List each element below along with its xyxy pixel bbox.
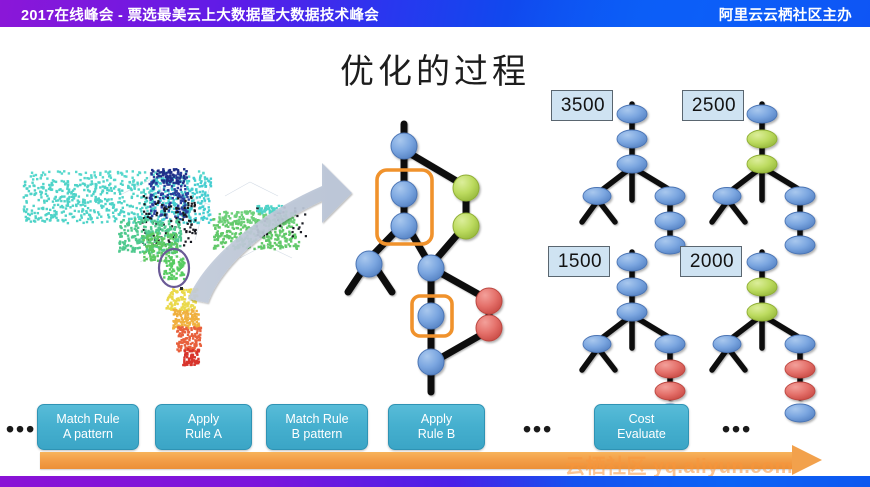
plan-cost-badge-3: 1500 <box>548 246 610 277</box>
pipeline-step-apply-rule-a[interactable]: Apply Rule A <box>155 404 252 450</box>
site-watermark: 云栖社区 yq.aliyun.com <box>565 450 870 474</box>
pipeline-step-cost-evaluate[interactable]: Cost Evaluate <box>594 404 689 450</box>
tree-node-red <box>476 288 502 314</box>
candidate-plan-4 <box>712 252 815 422</box>
transition-arrow <box>188 163 352 303</box>
page-title: 优化的过程 <box>0 44 870 93</box>
plan-cost-badge-1: 3500 <box>551 90 613 121</box>
tree-node-blue <box>391 213 417 239</box>
summit-title: 2017在线峰会 - 票选最美云上大数据暨大数据技术峰会 <box>21 4 379 25</box>
tree-node-blue <box>418 255 444 281</box>
tree-node-blue <box>391 181 417 207</box>
pipeline-step-apply-rule-b[interactable]: Apply Rule B <box>388 404 485 450</box>
tree-node-blue <box>356 251 382 277</box>
tree-node-blue <box>391 133 417 159</box>
plan-cost-badge-2: 2500 <box>682 90 744 121</box>
pipeline-trailing-ellipsis: ••• <box>722 424 752 434</box>
top-header-bar: 2017在线峰会 - 票选最美云上大数据暨大数据技术峰会 阿里云云栖社区主办 <box>0 0 870 27</box>
pipeline-leading-ellipsis: ••• <box>6 424 36 434</box>
slide-canvas: 2017在线峰会 - 票选最美云上大数据暨大数据技术峰会 阿里云云栖社区主办 优… <box>0 0 870 487</box>
candidate-plan-2 <box>712 104 815 254</box>
pipeline-step-match-rule-b[interactable]: Match Rule B pattern <box>266 404 368 450</box>
rule-match-highlight-b <box>412 296 452 336</box>
rule-match-highlight-a <box>377 170 432 244</box>
bottom-accent-bar <box>0 476 870 487</box>
highlight-ellipse <box>159 249 189 287</box>
candidate-plan-3 <box>582 252 685 422</box>
tree-node-red <box>476 315 502 341</box>
candidate-plan-1 <box>582 104 685 254</box>
tree-node-blue <box>418 349 444 375</box>
tree-node-green <box>453 175 479 201</box>
summit-organizer: 阿里云云栖社区主办 <box>719 4 852 25</box>
pipeline-middle-ellipsis: ••• <box>523 424 553 434</box>
tree-node-green <box>453 213 479 239</box>
plan-cost-badge-4: 2000 <box>680 246 742 277</box>
tree-node-blue <box>418 303 444 329</box>
pipeline-step-match-rule-a[interactable]: Match Rule A pattern <box>37 404 139 450</box>
